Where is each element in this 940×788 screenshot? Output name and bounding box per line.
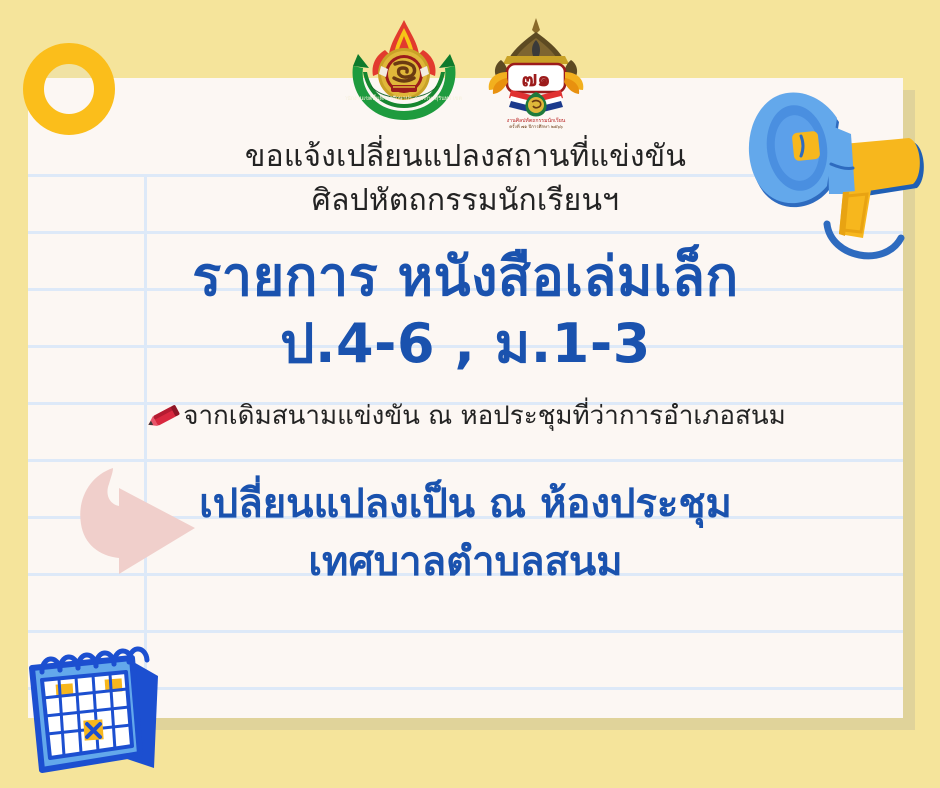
page-title-line-2: ป.4-6 , ม.1-3 xyxy=(64,310,867,377)
curved-arrow-right-icon xyxy=(75,462,210,577)
previous-venue-text: จากเดิมสนามแข่งขัน ณ หอประชุมที่ว่าการอำ… xyxy=(183,399,786,433)
calendar-illustration xyxy=(12,632,177,782)
poster-canvas: สำนักงานเขตพื้นที่การศึกษาประถมศึกษาสุริ… xyxy=(0,0,940,788)
megaphone-illustration xyxy=(735,62,940,277)
pencil-icon xyxy=(145,401,183,431)
previous-venue-line: จากเดิมสนามแข่งขัน ณ หอประชุมที่ว่าการอำ… xyxy=(64,377,867,433)
